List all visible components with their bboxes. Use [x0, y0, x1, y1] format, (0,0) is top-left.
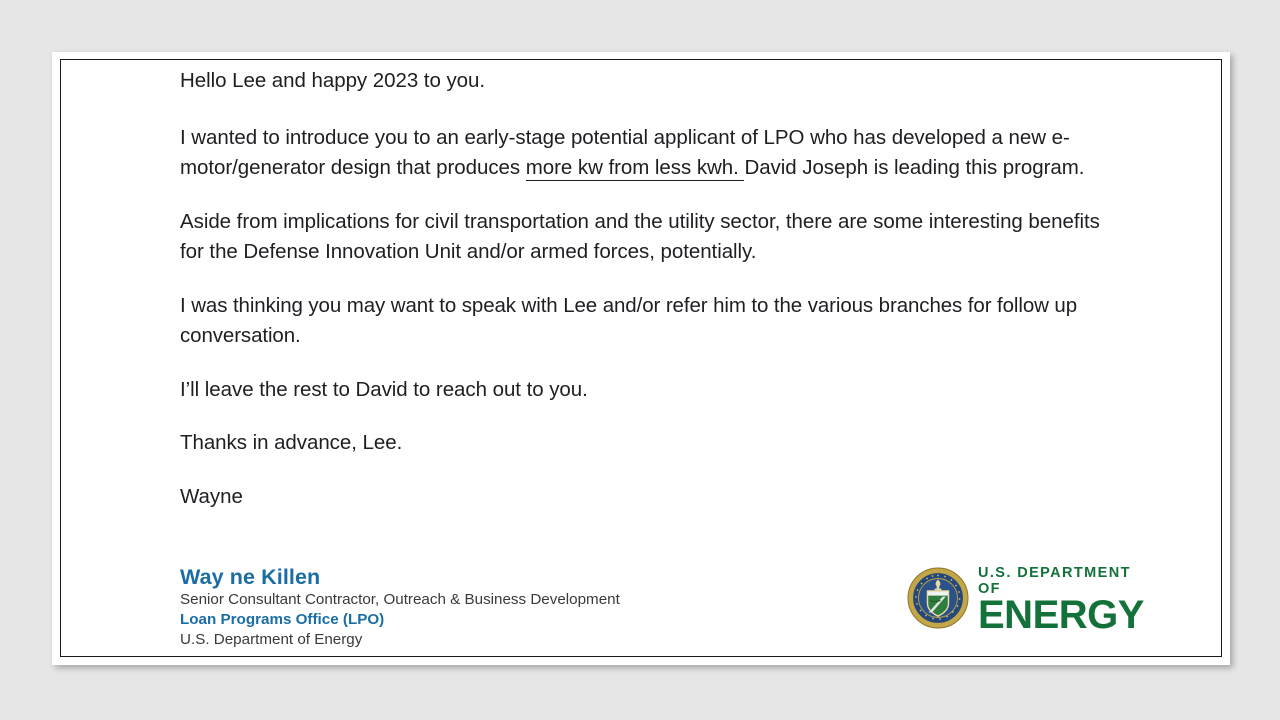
signature-title: Senior Consultant Contractor, Outreach &…: [180, 590, 800, 610]
document-page: Hello Lee and happy 2023 to you. I wante…: [52, 52, 1230, 665]
intro-text-after: David Joseph is leading this program.: [744, 156, 1084, 179]
paragraph-suggestion: I was thinking you may want to speak wit…: [180, 291, 1115, 352]
doe-energy-line: ENERGY: [978, 595, 1147, 635]
email-body: Hello Lee and happy 2023 to you. I wante…: [180, 66, 1115, 512]
paragraph-thanks: Thanks in advance, Lee.: [180, 428, 1115, 459]
doe-seal-icon: [907, 567, 969, 634]
paragraph-greeting: Hello Lee and happy 2023 to you.: [180, 66, 1115, 97]
slide-canvas: Hello Lee and happy 2023 to you. I wante…: [0, 0, 1280, 720]
paragraph-intro: I wanted to introduce you to an early-st…: [180, 123, 1115, 184]
paragraph-signoff: Wayne: [180, 482, 1115, 513]
signature-department: U.S. Department of Energy: [180, 630, 800, 650]
signature-office: Loan Programs Office (LPO): [180, 610, 800, 630]
doe-logo: U.S. DEPARTMENT OF ENERGY: [907, 560, 1147, 640]
doe-wordmark: U.S. DEPARTMENT OF ENERGY: [978, 565, 1147, 635]
paragraph-implications: Aside from implications for civil transp…: [180, 207, 1115, 268]
paragraph-handoff: I’ll leave the rest to David to reach ou…: [180, 375, 1115, 406]
signature-name: Way ne Killen: [180, 564, 800, 590]
signature-block: Way ne Killen Senior Consultant Contract…: [180, 564, 800, 650]
underlined-phrase: more kw from less kwh.: [526, 156, 745, 181]
